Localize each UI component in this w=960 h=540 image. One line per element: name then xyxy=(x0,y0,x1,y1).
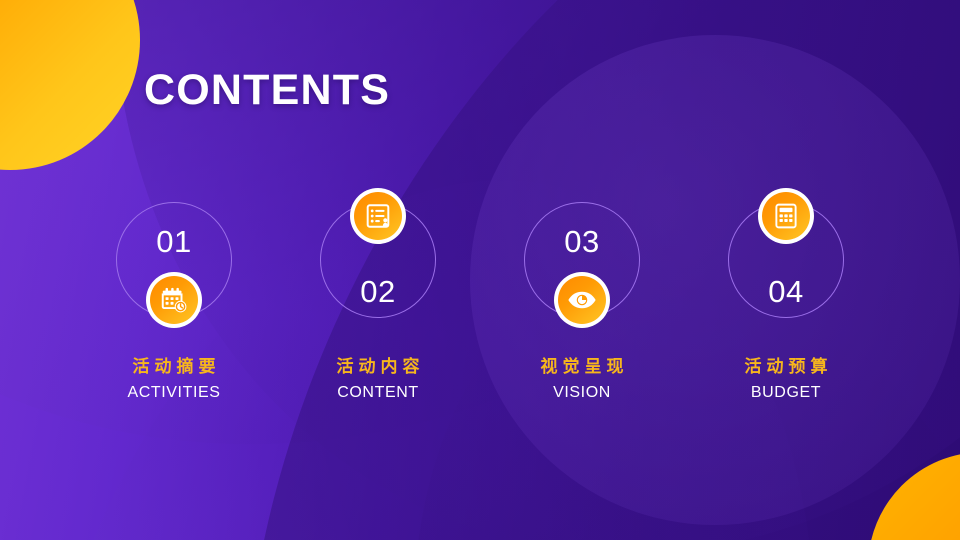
calculator-icon[interactable] xyxy=(758,188,814,244)
item-number: 04 xyxy=(768,274,803,310)
item-label-cn: 活动内容 xyxy=(276,352,480,377)
item-label-en: BUDGET xyxy=(684,384,888,402)
item-label-en: ACTIVITIES xyxy=(72,384,276,402)
item-label-en: VISION xyxy=(480,384,684,402)
item-graphic: 02 xyxy=(276,196,480,342)
document-list-icon[interactable] xyxy=(350,188,406,244)
item-label-cn: 活动预算 xyxy=(684,352,888,377)
contents-item-02[interactable]: 02 xyxy=(276,196,480,402)
page-title: CONTENTS xyxy=(144,66,390,115)
item-label-cn: 活动摘要 xyxy=(72,352,276,377)
contents-item-01[interactable]: 01 xyxy=(72,196,276,402)
item-graphic: 04 xyxy=(684,196,888,342)
contents-slide: CONTENTS 01 xyxy=(0,0,960,540)
contents-item-list: 01 xyxy=(0,196,960,402)
item-graphic: 03 xyxy=(480,196,684,342)
contents-item-04[interactable]: 04 xyxy=(684,196,888,402)
eye-icon[interactable] xyxy=(554,272,610,328)
item-number: 03 xyxy=(564,224,599,260)
item-label-en: CONTENT xyxy=(276,384,480,402)
item-number: 02 xyxy=(360,274,395,310)
calendar-clock-icon[interactable] xyxy=(146,272,202,328)
contents-item-03[interactable]: 03 视觉呈现 VISION xyxy=(480,196,684,402)
item-graphic: 01 xyxy=(72,196,276,342)
item-number: 01 xyxy=(156,224,191,260)
item-label-cn: 视觉呈现 xyxy=(480,352,684,377)
